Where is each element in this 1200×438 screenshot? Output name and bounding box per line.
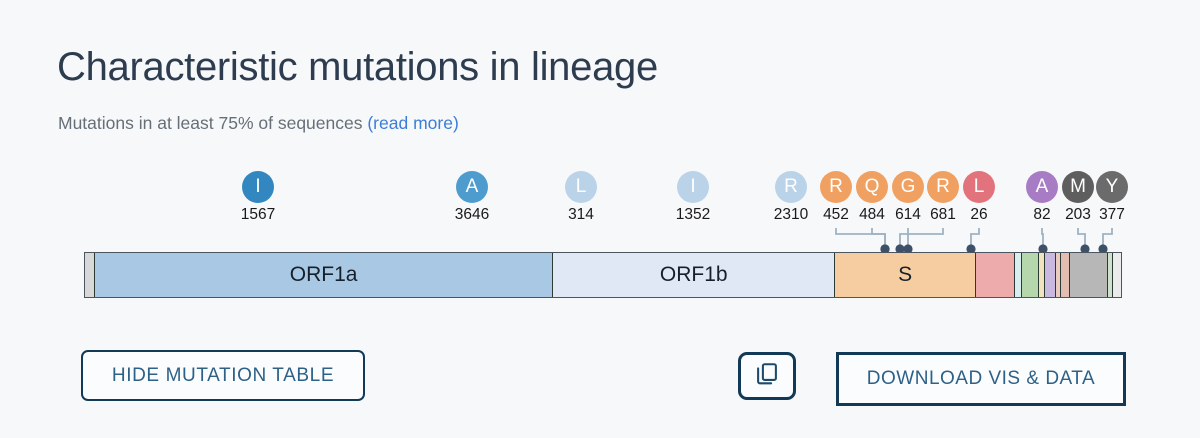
copy-icon [754,361,780,392]
mutation-marker-letter: A [456,171,488,203]
download-button[interactable]: DOWNLOAD VIS & DATA [836,352,1126,406]
genome-segment-label: ORF1a [290,263,358,287]
copy-button[interactable] [738,352,796,400]
genome-segment-label: ORF1b [660,263,728,287]
mutation-marker-letter: R [775,171,807,203]
genome-segment-n[interactable] [1070,253,1108,297]
page-title: Characteristic mutations in lineage [57,44,658,90]
mutation-marker[interactable]: I1567 [228,171,288,224]
marker-connector-line [900,228,908,246]
marker-connector-line [908,228,943,246]
mutation-marker-position: 26 [949,206,1009,224]
genome-segment-orf3a[interactable] [976,253,1015,297]
genome-segment-5utr[interactable] [85,253,95,297]
marker-connector-line [1078,228,1085,246]
genome-segment-orf1a[interactable]: ORF1a [95,253,553,297]
download-label: DOWNLOAD VIS & DATA [867,368,1095,390]
mutation-marker-letter: I [242,171,274,203]
mutation-marker[interactable]: Y377 [1082,171,1142,224]
mutation-marker-position: 1567 [228,206,288,224]
mutation-marker[interactable]: L26 [949,171,1009,224]
genome-bar[interactable]: ORF1aORF1bS [84,252,1122,298]
marker-connector-line [1042,228,1043,246]
marker-connector-line [836,228,885,246]
genome-segment-label: S [898,263,912,287]
genome-segment-orf7a[interactable] [1045,253,1057,297]
genome-segment-orf8[interactable] [1061,253,1070,297]
subtitle: Mutations in at least 75% of sequences (… [58,112,459,134]
mutation-marker-letter: L [565,171,597,203]
genome-segment-s[interactable]: S [835,253,976,297]
mutation-marker-letter: I [677,171,709,203]
hide-mutation-table-button[interactable]: HIDE MUTATION TABLE [81,350,365,401]
marker-connector-line [872,228,885,246]
hide-mutation-table-label: HIDE MUTATION TABLE [112,365,334,387]
genome-segment-m[interactable] [1022,253,1039,297]
mutation-marker[interactable]: A3646 [442,171,502,224]
mutation-marker-letter: L [963,171,995,203]
subtitle-text: Mutations in at least 75% of sequences [58,113,367,133]
marker-connector-line [1103,228,1112,246]
mutation-marker-position: 1352 [663,206,723,224]
mutation-marker-position: 3646 [442,206,502,224]
mutation-marker[interactable]: I1352 [663,171,723,224]
mutation-marker[interactable]: L314 [551,171,611,224]
read-more-link[interactable]: (read more) [367,113,458,133]
genome-segment-orf1b[interactable]: ORF1b [553,253,835,297]
mutation-marker-letter: Y [1096,171,1128,203]
mutation-marker-position: 314 [551,206,611,224]
genome-segment-e[interactable] [1015,253,1022,297]
mutation-marker-position: 377 [1082,206,1142,224]
genome-segment-3utr[interactable] [1113,253,1121,297]
marker-connector-line [971,228,979,246]
